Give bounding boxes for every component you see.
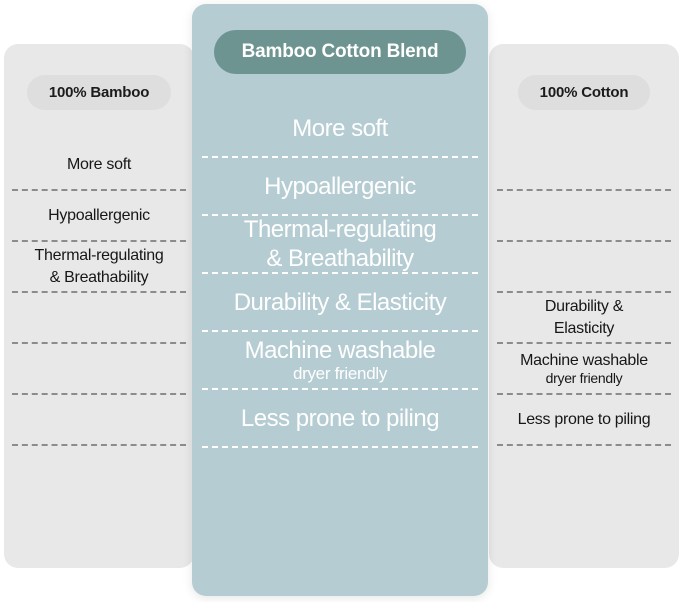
feature-label-line-1: Durability & (545, 298, 623, 315)
feature-row: Hypoallergenic (12, 191, 186, 242)
feature-row: Less prone to piling (202, 390, 478, 448)
panel-center-header: Bamboo Cotton Blend (202, 4, 478, 100)
feature-label: More soft (67, 155, 131, 174)
feature-row (497, 140, 671, 191)
feature-label: More soft (292, 115, 388, 142)
feature-label-line-2: & Breathability (266, 245, 413, 272)
feature-sublabel: dryer friendly (293, 364, 387, 384)
feature-label: Less prone to piling (518, 410, 651, 429)
feature-row: More soft (202, 100, 478, 158)
comparison-chart: 100% Bamboo More softHypoallergenicTherm… (0, 0, 679, 602)
feature-row: Thermal-regulating& Breathability (12, 242, 186, 293)
panel-center-title-pill: Bamboo Cotton Blend (214, 30, 467, 74)
feature-label: Durability & Elasticity (234, 289, 447, 316)
panel-center-rows: More softHypoallergenicThermal-regulatin… (202, 100, 478, 448)
feature-sublabel: dryer friendly (546, 370, 623, 387)
feature-row: Thermal-regulating& Breathability (202, 216, 478, 274)
feature-label: Durability &Elasticity (545, 296, 623, 340)
feature-row: More soft (12, 140, 186, 191)
feature-label: Less prone to piling (241, 405, 439, 432)
feature-label-line-2: Elasticity (554, 320, 614, 337)
feature-label: Machine washable (520, 351, 648, 370)
feature-label: Thermal-regulating& Breathability (35, 245, 164, 289)
feature-label-line-1: Thermal-regulating (244, 216, 436, 243)
feature-row: Machine washabledryer friendly (202, 332, 478, 390)
panel-right-header: 100% Cotton (497, 44, 671, 140)
panel-bamboo-cotton-blend: Bamboo Cotton Blend More softHypoallerge… (192, 4, 488, 596)
feature-label-line-2: & Breathability (50, 269, 149, 286)
feature-row: Durability &Elasticity (497, 293, 671, 344)
panel-left-header: 100% Bamboo (12, 44, 186, 140)
panel-100-percent-cotton: 100% Cotton Durability &ElasticityMachin… (489, 44, 679, 568)
feature-label-line-1: Thermal-regulating (35, 247, 164, 264)
feature-label: Machine washable (245, 337, 436, 364)
panel-right-rows: Durability &ElasticityMachine washabledr… (497, 140, 671, 446)
panel-left-rows: More softHypoallergenicThermal-regulatin… (12, 140, 186, 446)
feature-row (12, 293, 186, 344)
panel-right-title-pill: 100% Cotton (518, 75, 651, 110)
feature-row: Durability & Elasticity (202, 274, 478, 332)
feature-label: Hypoallergenic (264, 173, 416, 200)
feature-row: Machine washabledryer friendly (497, 344, 671, 395)
feature-label: Hypoallergenic (48, 206, 150, 225)
feature-row (497, 191, 671, 242)
feature-label: Thermal-regulating& Breathability (244, 215, 436, 273)
feature-row: Hypoallergenic (202, 158, 478, 216)
feature-row (12, 344, 186, 395)
feature-row: Less prone to piling (497, 395, 671, 446)
feature-row (12, 395, 186, 446)
panel-left-title-pill: 100% Bamboo (27, 75, 171, 110)
panel-100-percent-bamboo: 100% Bamboo More softHypoallergenicTherm… (4, 44, 194, 568)
feature-row (497, 242, 671, 293)
